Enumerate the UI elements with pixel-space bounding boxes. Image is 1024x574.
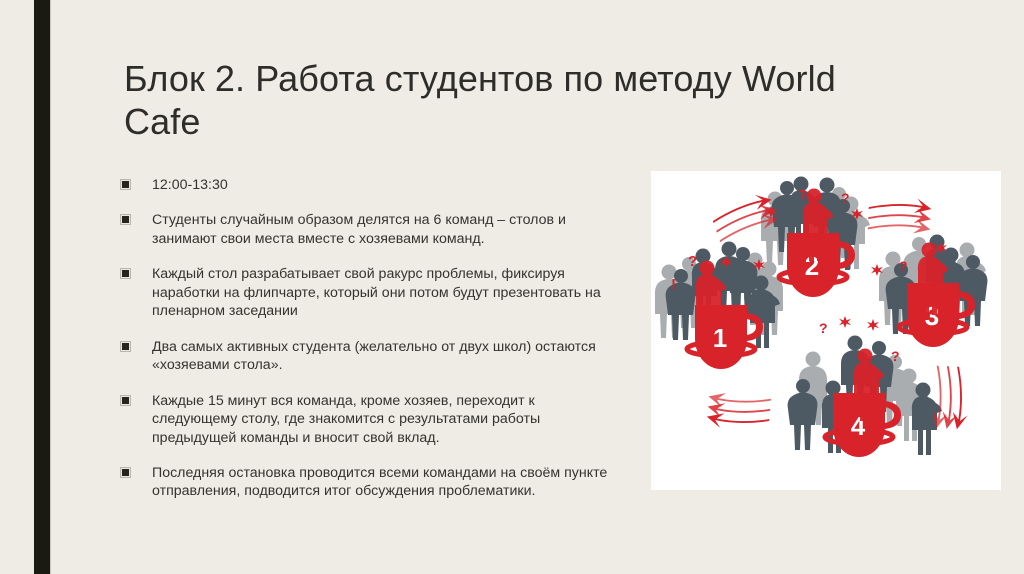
world-cafe-illustration: 1 ? !: [651, 171, 1001, 490]
square-bullet-icon: [121, 468, 130, 477]
list-item-text: Последняя остановка проводится всеми ком…: [152, 465, 607, 499]
question-mark-icon: ?: [798, 186, 807, 202]
list-item: Последняя остановка проводится всеми ком…: [118, 464, 620, 501]
world-cafe-diagram-svg: 1 ? !: [651, 171, 1001, 490]
question-mark-icon: ?: [841, 190, 850, 206]
list-item: 12:00-13:30: [118, 176, 620, 194]
question-mark-icon: ?: [899, 258, 908, 274]
slide-accent-bar: [34, 0, 51, 574]
question-mark-icon: ?: [819, 320, 828, 336]
square-bullet-icon: [121, 215, 130, 224]
list-item: Два самых активных студента (желательно …: [118, 338, 620, 375]
exclamation-mark-icon: !: [671, 276, 676, 293]
list-item-text: 12:00-13:30: [152, 177, 228, 193]
square-bullet-icon: [121, 269, 130, 278]
bullet-list: 12:00-13:30 Студенты случайным образом д…: [118, 176, 620, 501]
square-bullet-icon: [121, 342, 130, 351]
square-bullet-icon: [121, 180, 130, 189]
list-item-text: Каждый стол разрабатывает свой ракурс пр…: [152, 266, 601, 319]
page-title: Блок 2. Работа студентов по методу World…: [124, 57, 914, 143]
list-item-text: Студенты случайным образом делятся на 6 …: [152, 212, 566, 246]
list-item-text: Два самых активных студента (желательно …: [152, 339, 596, 373]
list-item: Каждые 15 минут вся команда, кроме хозяе…: [118, 392, 620, 447]
square-bullet-icon: [121, 396, 130, 405]
question-mark-icon: ?: [688, 253, 697, 270]
list-item: Студенты случайным образом делятся на 6 …: [118, 211, 620, 248]
list-item: Каждый стол разрабатывает свой ракурс пр…: [118, 265, 620, 320]
question-mark-icon: ?: [891, 348, 900, 364]
list-item-text: Каждые 15 минут вся команда, кроме хозяе…: [152, 393, 540, 446]
